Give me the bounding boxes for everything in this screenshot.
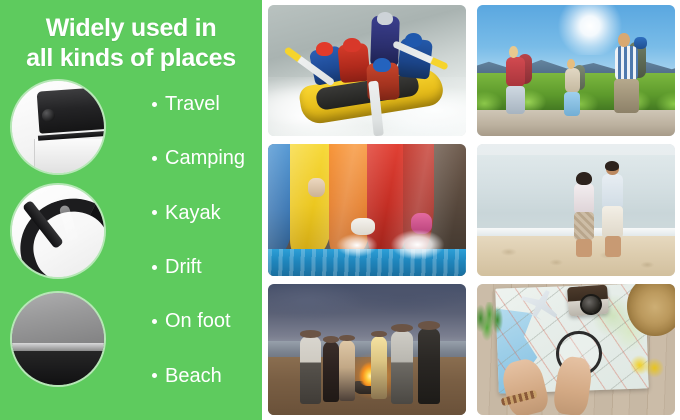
bullet-dot-icon	[152, 373, 157, 378]
product-body-shape	[34, 139, 104, 173]
person-head	[323, 336, 339, 343]
person-head	[418, 321, 440, 329]
bullet-dot-icon	[152, 319, 157, 324]
use-case-item-travel: Travel	[152, 94, 262, 114]
walker-legs	[576, 239, 591, 257]
photo-bonfire	[268, 284, 466, 415]
walker-top	[602, 174, 624, 210]
hiker-legs	[564, 92, 580, 116]
photo-grid	[262, 0, 680, 420]
use-case-item-on-foot: On foot	[152, 311, 262, 331]
use-case-label: On foot	[165, 311, 231, 331]
walker-trousers	[602, 206, 624, 238]
walker-hair	[576, 172, 592, 185]
product-shell-edge	[12, 343, 104, 351]
hiker-torso	[506, 57, 524, 87]
person-silhouette	[300, 336, 322, 404]
product-thumbnail-strap	[12, 185, 104, 277]
product-shell-base	[12, 351, 104, 385]
hiker	[560, 58, 586, 121]
helmet	[343, 38, 361, 52]
person-silhouette	[323, 341, 339, 401]
product-thumbnail-shell	[12, 293, 104, 385]
use-case-item-drift: Drift	[152, 257, 262, 277]
photo-beach-walk	[477, 144, 675, 275]
use-case-label: Beach	[165, 366, 222, 386]
photo-hiking	[477, 5, 675, 136]
product-thumbnail-list	[12, 73, 108, 403]
hiker	[608, 31, 648, 120]
person-silhouette	[418, 328, 440, 404]
potted-plant	[477, 302, 511, 341]
helmet	[377, 12, 393, 25]
hiker-legs	[506, 86, 526, 115]
use-case-label: Kayak	[165, 203, 221, 223]
water-splash	[335, 231, 379, 257]
walker-legs	[605, 236, 621, 257]
bullet-dot-icon	[152, 265, 157, 270]
use-case-label: Camping	[165, 148, 245, 168]
left-green-panel: Widely used in all kinds of places	[0, 0, 262, 420]
product-feature-banner: Widely used in all kinds of places	[0, 0, 680, 420]
use-case-item-beach: Beach	[152, 366, 262, 386]
panel-body: Travel Camping Kayak Drift On foot	[0, 73, 262, 403]
hiker-torso	[565, 68, 580, 93]
hiker-legs	[614, 79, 639, 113]
walker-top	[574, 183, 594, 215]
use-case-item-kayak: Kayak	[152, 203, 262, 223]
use-case-label: Drift	[165, 257, 202, 277]
slider-child	[308, 178, 326, 196]
hiker-head	[618, 33, 630, 47]
page-title: Widely used in all kinds of places	[0, 0, 262, 73]
use-case-item-camping: Camping	[152, 148, 262, 168]
use-case-list: Travel Camping Kayak Drift On foot	[112, 73, 262, 403]
use-case-label: Travel	[165, 94, 220, 114]
hiker	[501, 44, 533, 120]
hiker-torso	[615, 46, 638, 82]
water-splash	[391, 226, 450, 260]
person-head	[300, 330, 322, 338]
person-silhouette	[371, 336, 387, 399]
product-thumbnail-hinge	[12, 81, 104, 173]
person-silhouette	[391, 331, 413, 405]
headline-line-2: all kinds of places	[8, 44, 254, 74]
bullet-dot-icon	[152, 210, 157, 215]
hiker-head	[567, 59, 575, 69]
walker-hair	[605, 161, 619, 171]
photo-water-slide	[268, 144, 466, 275]
bullet-dot-icon	[152, 156, 157, 161]
helmet	[316, 42, 334, 56]
headline-line-1: Widely used in	[8, 14, 254, 44]
photo-rafting	[268, 5, 466, 136]
person-silhouette	[339, 340, 355, 400]
bullet-dot-icon	[152, 102, 157, 107]
helmet	[373, 58, 391, 72]
beach-walker	[596, 163, 630, 258]
walker-skirt	[574, 212, 594, 241]
photo-map-planning	[477, 284, 675, 415]
